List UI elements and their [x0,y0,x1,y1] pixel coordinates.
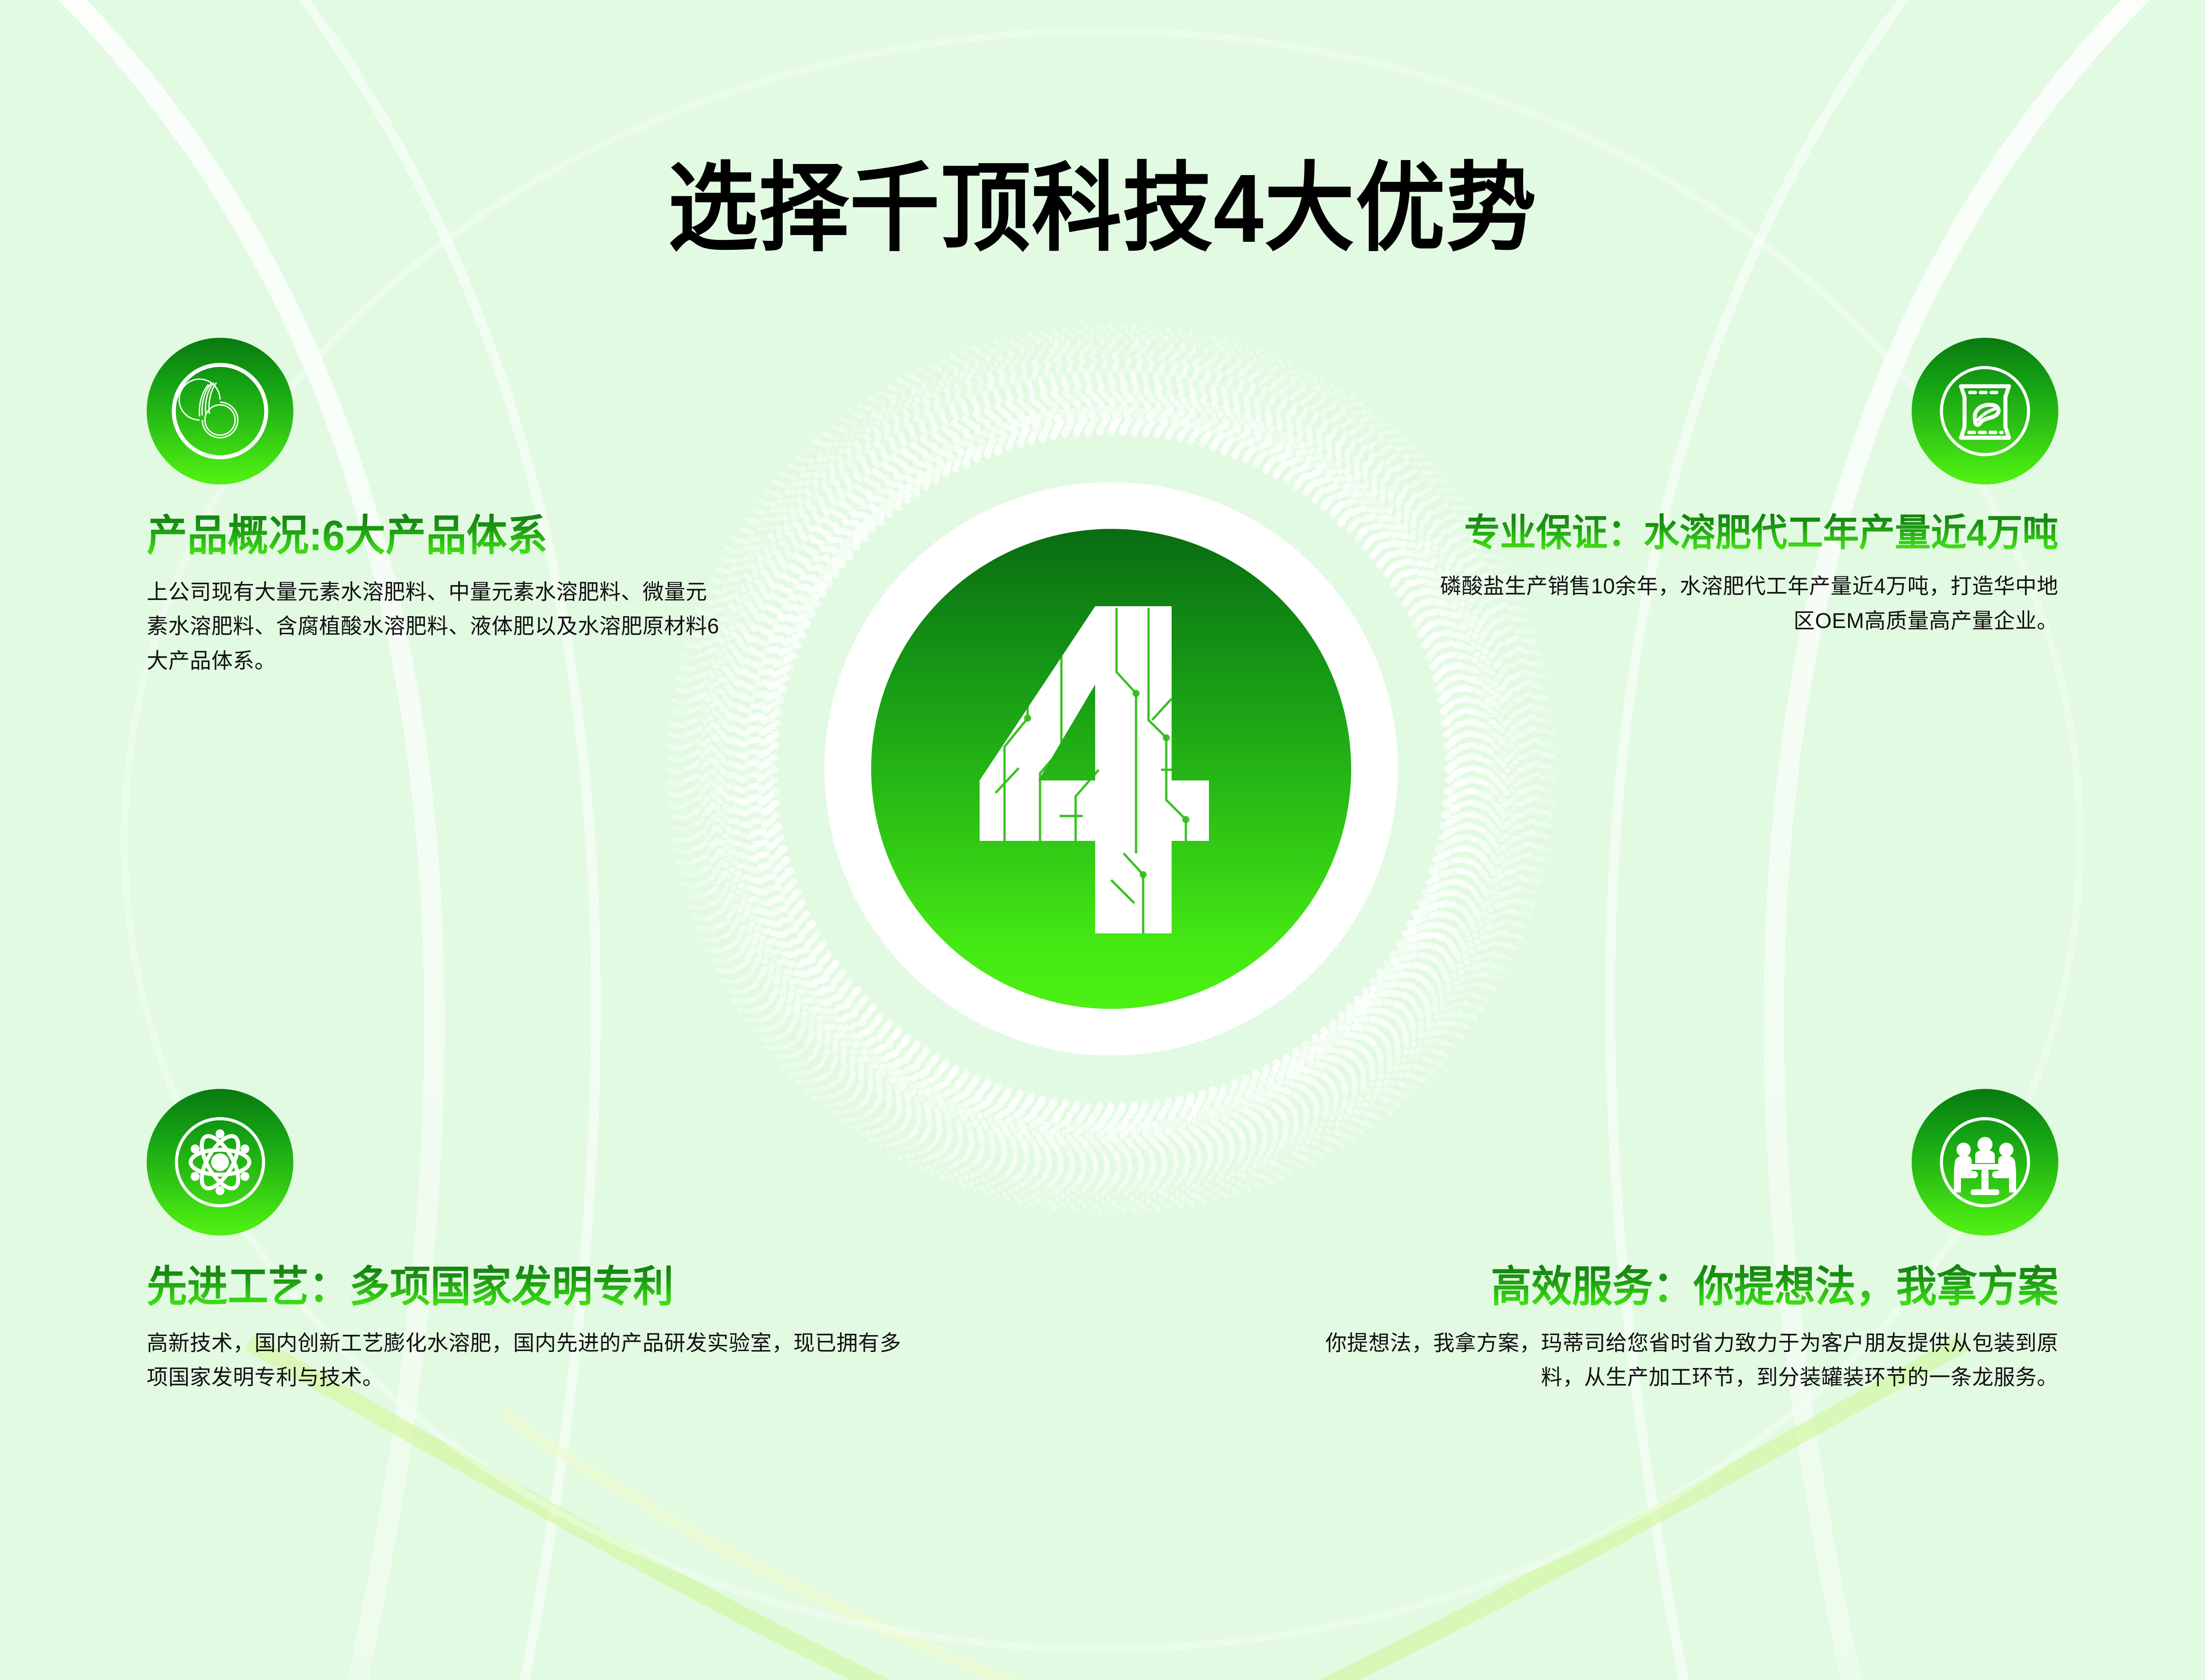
advantage-heading: 高效服务：你提想法，我拿方案 [1341,1263,2058,1311]
advantage-heading: 专业保证：水溶肥代工年产量近4万吨 [1459,512,2058,554]
advantage-body: 高新技术，国内创新工艺膨化水溶肥，国内先进的产品研发实验室，现已拥有多项国家发明… [147,1326,902,1396]
advantage-body: 你提想法，我拿方案，玛蒂司给您省时省力致力于为客户朋友提供从包装到原料，从生产加… [1303,1326,2058,1396]
advantage-body: 上公司现有大量元素水溶肥料、中量元素水溶肥料、微量元素水溶肥料、含腐植酸水溶肥料… [147,575,720,679]
advantage-block-advanced-process: 先进工艺：多项国家发明专利 高新技术，国内创新工艺膨化水溶肥，国内先进的产品研发… [147,1089,902,1395]
center-number-4 [871,529,1351,1009]
advantage-block-efficient-service: 高效服务：你提想法，我拿方案 你提想法，我拿方案，玛蒂司给您省时省力致力于为客户… [1303,1089,2058,1395]
fertilizer-bag-icon [1912,338,2058,484]
number-6-ring-icon [147,338,293,484]
page-title: 选择千顶科技4大优势 [77,158,2128,260]
advantage-block-product-overview: 产品概况:6大产品体系 上公司现有大量元素水溶肥料、中量元素水溶肥料、微量元素水… [147,338,720,679]
advantage-heading: 产品概况:6大产品体系 [147,512,692,560]
meeting-team-icon [1912,1089,2058,1236]
atom-icon [147,1089,293,1236]
center-medallion [667,324,1556,1213]
center-core-circle [871,529,1351,1009]
advantage-block-professional-guarantee: 专业保证：水溶肥代工年产量近4万吨 磷酸盐生产销售10余年，水溶肥代工年产量近4… [1427,338,2058,639]
infographic-canvas: 选择千顶科技4大优势 [0,0,2205,1680]
advantage-body: 磷酸盐生产销售10余年，水溶肥代工年产量近4万吨，打造华中地区OEM高质量高产量… [1427,569,2058,639]
advantage-heading: 先进工艺：多项国家发明专利 [147,1263,864,1311]
